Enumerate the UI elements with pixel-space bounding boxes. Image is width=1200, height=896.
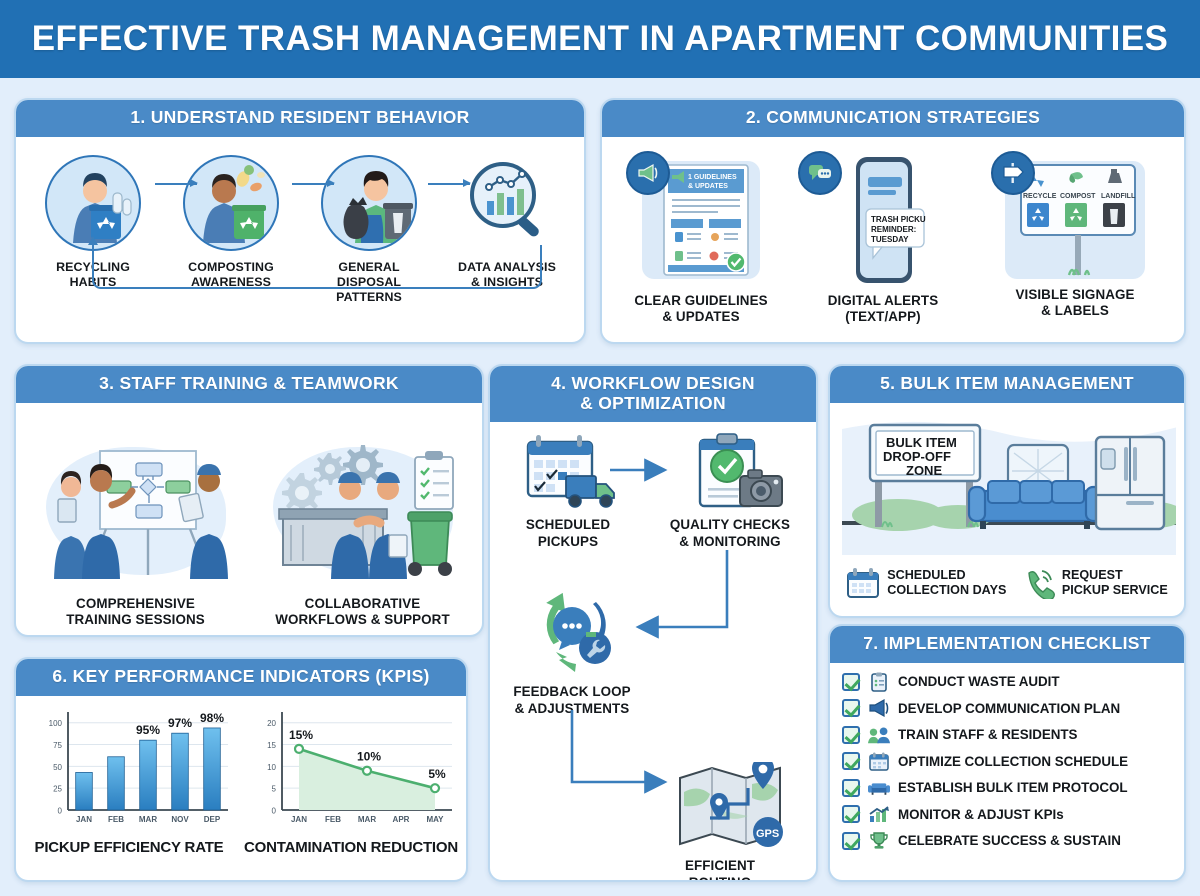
comm-item-label: CLEAR GUIDELINES& UPDATES [634,293,767,326]
clipboard-list-icon [868,672,890,692]
checklist-row[interactable]: OPTIMIZE COLLECTION SCHEDULE [842,748,1174,775]
checklist-row[interactable]: TRAIN STAFF & RESIDENTS [842,722,1174,749]
handshake-gears-scene [265,437,461,587]
checkbox-checked-icon[interactable] [842,779,860,797]
section-7-implementation-checklist: 7. IMPLEMENTATION CHECKLIST CONDUCT WAST… [828,624,1186,882]
bulk-dropoff-scene: BULK ITEM DROP-OFF ZONE [838,409,1176,561]
person-trash-bag-icon [321,155,417,251]
checklist-item-label: CONDUCT WASTE AUDIT [898,674,1059,689]
comm-item-label: VISIBLE SIGNAGE& LABELS [1015,287,1134,320]
svg-text:ZONE: ZONE [906,463,942,478]
checklist-row[interactable]: CONDUCT WASTE AUDIT [842,669,1174,696]
section-6-body: 0255075100 95%97%98% JANFEBMARNOVDEP PIC… [16,696,466,878]
svg-text:98%: 98% [200,711,224,725]
section-4-body: SCHEDULEDPICKUPS [490,422,816,878]
people-group-icon [868,725,890,745]
svg-text:BULK ITEM: BULK ITEM [886,435,957,450]
page-title-bar: EFFECTIVE TRASH MANAGEMENT IN APARTMENT … [0,0,1200,78]
svg-text:JAN: JAN [76,815,92,824]
section-2-body: 1 GUIDELINES & UPDATES [602,137,1184,340]
checkbox-checked-icon[interactable] [842,699,860,717]
bulk-footer-row: SCHEDULEDCOLLECTION DAYS REQUESTPICKUP S… [838,567,1176,599]
svg-text:GPS: GPS [756,828,779,840]
comm-item-digital-alerts[interactable]: TRASH PICKUP REMINDER: TUESDAY DIGITAL A… [798,161,968,326]
svg-text:15%: 15% [289,728,313,742]
magnifier-chart-icon [459,155,555,251]
svg-text:25: 25 [53,784,62,793]
section-2-communication-strategies: 2. COMMUNICATION STRATEGIES [600,98,1186,344]
training-scenes-row: COMPREHENSIVETRAINING SESSIONS [22,407,476,629]
map-gps-icon: GPS [674,762,766,854]
section-4-workflow-design-optimization: 4. WORKFLOW DESIGN& OPTIMIZATION [488,364,818,882]
svg-text:50: 50 [53,762,62,771]
workflow-item-label: FEEDBACK LOOP& ADJUSTMENTS [513,684,630,717]
flow-loopback-arrow [92,245,542,289]
svg-text:TRASH PICKUP: TRASH PICKUP [871,215,926,224]
flow-arrow-1 [155,183,197,185]
svg-text:MAR: MAR [358,815,376,824]
svg-text:LANDFILL: LANDFILL [1101,193,1136,200]
section-1-header: 1. UNDERSTAND RESIDENT BEHAVIOR [16,100,584,137]
svg-text:10%: 10% [357,749,381,763]
guidelines-document-art: 1 GUIDELINES & UPDATES [642,161,760,279]
section-3-header: 3. STAFF TRAINING & TEAMWORK [16,366,482,403]
calendar-icon [846,567,880,599]
svg-text:0: 0 [58,806,63,815]
bulk-footer-label: REQUESTPICKUP SERVICE [1062,568,1168,597]
bulk-footer-request-pickup[interactable]: REQUESTPICKUP SERVICE [1023,567,1168,599]
svg-text:15: 15 [267,741,276,750]
comm-item-clear-guidelines[interactable]: 1 GUIDELINES & UPDATES [616,161,786,326]
svg-text:95%: 95% [136,723,160,737]
directional-sign-icon [991,151,1035,195]
checklist-item-label: DEVELOP COMMUNICATION PLAN [898,701,1120,716]
training-item-label: COMPREHENSIVETRAINING SESSIONS [66,596,205,629]
svg-text:REMINDER:: REMINDER: [871,225,916,234]
phone-ring-icon [1023,567,1055,599]
checklist-item-label: MONITOR & ADJUST KPIs [898,807,1064,822]
section-2-header: 2. COMMUNICATION STRATEGIES [602,100,1184,137]
svg-text:1 GUIDELINES: 1 GUIDELINES [688,174,737,181]
communication-row: 1 GUIDELINES & UPDATES [610,147,1176,326]
page-title: EFFECTIVE TRASH MANAGEMENT IN APARTMENT … [32,19,1169,59]
bulk-footer-scheduled-collection[interactable]: SCHEDULEDCOLLECTION DAYS [846,567,1006,599]
svg-text:20: 20 [267,719,276,728]
chat-bubbles-icon [798,151,842,195]
svg-text:& UPDATES: & UPDATES [688,183,728,190]
workflow-item-feedback-loop[interactable]: FEEDBACK LOOP& ADJUSTMENTS [502,582,642,717]
cycle-chat-wrench-icon [526,582,618,680]
checklist-item-label: ESTABLISH BULK ITEM PROTOCOL [898,780,1127,795]
section-5-bulk-item-management: 5. BULK ITEM MANAGEMENT BULK ITEM DROP-O… [828,364,1186,618]
megaphone-icon [626,151,670,195]
checklist-item-label: TRAIN STAFF & RESIDENTS [898,727,1077,742]
workflow-item-label: QUALITY CHECKS& MONITORING [670,517,790,550]
phone-alert-art: TRASH PICKUP REMINDER: TUESDAY [824,161,942,279]
workflow-item-label: SCHEDULEDPICKUPS [526,517,610,550]
svg-text:NOV: NOV [171,815,189,824]
bulk-footer-label: SCHEDULEDCOLLECTION DAYS [887,568,1006,597]
section-7-header: 7. IMPLEMENTATION CHECKLIST [830,626,1184,663]
workflow-item-label: EFFICIENTROUTING [685,858,755,882]
bar-chart-svg: 0255075100 95%97%98% JANFEBMARNOVDEP [22,702,236,837]
checklist-row[interactable]: DEVELOP COMMUNICATION PLAN [842,695,1174,722]
flow-arrow-3 [428,183,470,185]
svg-text:MAY: MAY [426,815,444,824]
section-1-body: RECYCLINGHABITS [16,137,584,340]
svg-text:5: 5 [272,784,277,793]
person-compost-bin-icon [183,155,279,251]
workflow-item-scheduled-pickups[interactable]: SCHEDULEDPICKUPS [498,432,638,550]
training-item-comprehensive[interactable]: COMPREHENSIVETRAINING SESSIONS [36,437,236,629]
svg-text:5%: 5% [428,767,446,781]
bar-chart-arrow-icon [868,804,890,824]
chart-title: CONTAMINATION REDUCTION [244,839,458,856]
infographic-page: EFFECTIVE TRASH MANAGEMENT IN APARTMENT … [0,0,1200,896]
checklist-row[interactable]: ESTABLISH BULK ITEM PROTOCOL [842,775,1174,802]
checkbox-checked-icon[interactable] [842,805,860,823]
chart-pickup-efficiency-rate: 0255075100 95%97%98% JANFEBMARNOVDEP PIC… [24,702,234,872]
checkbox-checked-icon[interactable] [842,673,860,691]
workflow-item-efficient-routing[interactable]: GPS EFFICIENTROUTING [650,762,790,882]
line-chart-svg: 05101520 15%10%5% JANFEBMARAPRMAY [240,702,462,837]
section-6-header: 6. KEY PERFORMANCE INDICATORS (KPIs) [16,659,466,696]
section-5-body: BULK ITEM DROP-OFF ZONE [830,403,1184,614]
calendar-truck-icon [522,432,614,508]
svg-text:JAN: JAN [291,815,307,824]
checklist-row[interactable]: MONITOR & ADJUST KPIs [842,801,1174,828]
svg-text:DEP: DEP [204,815,221,824]
checklist-row[interactable]: CELEBRATE SUCCESS & SUSTAIN [842,828,1174,855]
checklist-body: CONDUCT WASTE AUDITDEVELOP COMMUNICATION… [830,663,1184,878]
svg-text:FEB: FEB [325,815,341,824]
svg-text:0: 0 [272,806,277,815]
clipboard-camera-icon [684,432,776,508]
section-1-understand-resident-behavior: 1. UNDERSTAND RESIDENT BEHAVIOR [14,98,586,344]
flow-arrow-2 [292,183,334,185]
megaphone-icon [868,698,890,718]
svg-text:TUESDAY: TUESDAY [871,235,909,244]
training-item-label: COLLABORATIVEWORKFLOWS & SUPPORT [275,596,449,629]
section-6-key-performance-indicators: 6. KEY PERFORMANCE INDICATORS (KPIs) 025… [14,657,468,882]
svg-text:RECYCLE: RECYCLE [1023,193,1057,200]
comm-item-visible-signage[interactable]: RECYCLE COMPOST LANDFILL VISIBLE [980,161,1170,326]
sofa-icon [868,778,890,798]
checkbox-checked-icon[interactable] [842,726,860,744]
svg-text:10: 10 [267,762,276,771]
signage-board-art: RECYCLE COMPOST LANDFILL [1005,161,1145,279]
calendar-icon [868,751,890,771]
training-item-collaborative[interactable]: COLLABORATIVEWORKFLOWS & SUPPORT [263,437,463,629]
chart-contamination-reduction: 05101520 15%10%5% JANFEBMARAPRMAY CONTAM… [240,702,462,872]
checkbox-checked-icon[interactable] [842,832,860,850]
checklist-item-label: OPTIMIZE COLLECTION SCHEDULE [898,754,1128,769]
checklist-item-label: CELEBRATE SUCCESS & SUSTAIN [898,833,1121,848]
section-3-body: COMPREHENSIVETRAINING SESSIONS [16,403,482,633]
svg-text:COMPOST: COMPOST [1060,193,1096,200]
svg-text:100: 100 [49,719,63,728]
svg-text:FEB: FEB [108,815,124,824]
chart-title: PICKUP EFFICIENCY RATE [35,839,224,856]
checkbox-checked-icon[interactable] [842,752,860,770]
trophy-icon [868,831,890,851]
svg-text:DROP-OFF: DROP-OFF [883,449,951,464]
svg-text:MAR: MAR [139,815,157,824]
training-flowchart-scene [38,437,234,587]
comm-item-label: DIGITAL ALERTS(TEXT/APP) [828,293,939,326]
kpi-charts-row: 0255075100 95%97%98% JANFEBMARNOVDEP PIC… [24,702,458,872]
section-3-staff-training-teamwork: 3. STAFF TRAINING & TEAMWORK [14,364,484,637]
svg-text:APR: APR [393,815,410,824]
section-5-header: 5. BULK ITEM MANAGEMENT [830,366,1184,403]
workflow-item-quality-checks[interactable]: QUALITY CHECKS& MONITORING [660,432,800,550]
svg-text:97%: 97% [168,716,192,730]
section-4-header: 4. WORKFLOW DESIGN& OPTIMIZATION [490,366,816,422]
svg-text:75: 75 [53,741,62,750]
